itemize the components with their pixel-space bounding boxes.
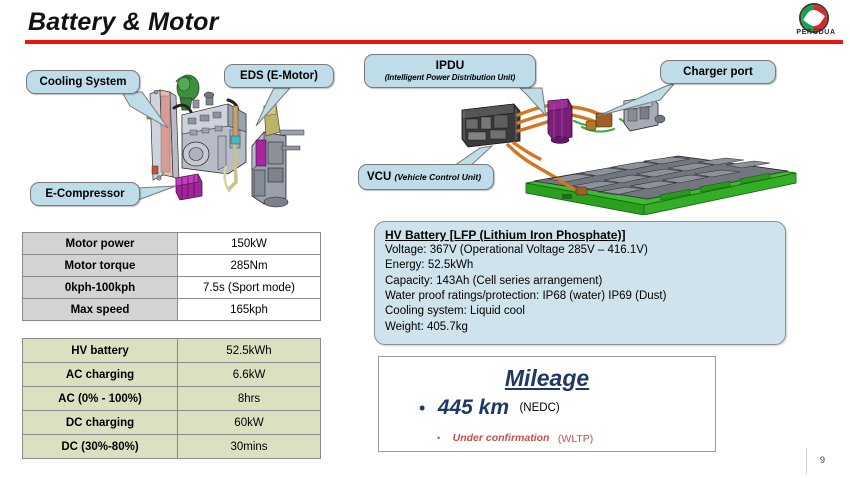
- charger-callout-tail: [596, 82, 676, 118]
- logo-wordmark: PERODUA: [788, 29, 844, 36]
- table-cell-value: 8hrs: [178, 387, 321, 411]
- mileage-secondary-row: • Under confirmation (WLTP): [379, 429, 715, 447]
- hv-battery-info-box: HV Battery [LFP (Lithium Iron Phosphate)…: [374, 221, 786, 345]
- table-row: DC (30%-80%) 30mins: [23, 435, 321, 459]
- table-cell-key: DC charging: [23, 411, 178, 435]
- table-cell-key: HV battery: [23, 339, 178, 363]
- callout-eds-emotor[interactable]: EDS (E-Motor): [224, 64, 334, 88]
- mileage-sub-standard: (WLTP): [558, 433, 593, 445]
- hv-box-line: Voltage: 367V (Operational Voltage 285V …: [385, 243, 775, 258]
- callout-label: E-Compressor: [45, 188, 124, 200]
- hv-box-line: Water proof ratings/protection: IP68 (wa…: [385, 289, 775, 304]
- cooling-callout-tail: [120, 90, 200, 136]
- hv-box-line: Cooling system: Liquid cool: [385, 304, 775, 319]
- callout-sublabel: (Intelligent Power Distribution Unit): [373, 73, 527, 82]
- table-row: DC charging 60kW: [23, 411, 321, 435]
- table-cell-value: 52.5kWh: [178, 339, 321, 363]
- motor-spec-table: Motor power 150kW Motor torque 285Nm 0kp…: [22, 232, 321, 321]
- table-cell-key: Motor power: [23, 233, 178, 255]
- table-row: 0kph-100kph 7.5s (Sport mode): [23, 277, 321, 299]
- mileage-value: 445 km: [438, 396, 509, 419]
- table-cell-value: 285Nm: [178, 255, 321, 277]
- slide-canvas: Battery & Motor PERODUA: [0, 0, 850, 478]
- eds-callout-tail: [244, 86, 294, 130]
- callout-label: EDS (E-Motor): [240, 70, 318, 82]
- perodua-logo: PERODUA: [788, 2, 844, 38]
- cylinder-art: [233, 106, 238, 140]
- battery-spec-table: HV battery 52.5kWh AC charging 6.6kW AC …: [22, 338, 321, 459]
- callout-label: Cooling System: [40, 76, 127, 88]
- ipdu-module-art: [462, 104, 520, 147]
- mileage-box: Mileage • 445 km (NEDC) • Under confirma…: [378, 356, 716, 452]
- table-cell-key: Max speed: [23, 299, 178, 321]
- table-cell-value: 150kW: [178, 233, 321, 255]
- callout-vcu[interactable]: VCU (Vehicle Control Unit): [358, 164, 494, 190]
- table-row: Max speed 165kph: [23, 299, 321, 321]
- table-cell-value: 6.6kW: [178, 363, 321, 387]
- table-cell-key: AC (0% - 100%): [23, 387, 178, 411]
- hv-box-line: Capacity: 143Ah (Cell series arrangement…: [385, 274, 775, 289]
- callout-cooling-system[interactable]: Cooling System: [26, 70, 140, 94]
- table-cell-value: 165kph: [178, 299, 321, 321]
- ecompressor-callout-tail: [136, 184, 182, 204]
- table-cell-key: DC (30%-80%): [23, 435, 178, 459]
- table-row: Motor torque 285Nm: [23, 255, 321, 277]
- table-cell-value: 60kW: [178, 411, 321, 435]
- table-cell-value: 30mins: [178, 435, 321, 459]
- page-title: Battery & Motor: [28, 8, 219, 37]
- title-divider: [25, 40, 843, 44]
- table-cell-key: Motor torque: [23, 255, 178, 277]
- mileage-sub-bullet: •: [437, 433, 440, 443]
- callout-ipdu[interactable]: IPDU (Intelligent Power Distribution Uni…: [364, 54, 536, 88]
- table-cell-value: 7.5s (Sport mode): [178, 277, 321, 299]
- table-row: AC charging 6.6kW: [23, 363, 321, 387]
- table-cell-key: 0kph-100kph: [23, 277, 178, 299]
- footer-divider: [806, 448, 807, 474]
- table-row: HV battery 52.5kWh: [23, 339, 321, 363]
- callout-e-compressor[interactable]: E-Compressor: [30, 182, 140, 206]
- hv-box-line: Weight: 405.7kg: [385, 320, 775, 335]
- mileage-sub-text: Under confirmation: [453, 432, 550, 444]
- callout-charger-port[interactable]: Charger port: [660, 60, 776, 84]
- mileage-bullet: •: [419, 398, 425, 418]
- mileage-primary-row: • 445 km (NEDC): [379, 396, 715, 420]
- hv-box-line: Energy: 52.5kWh: [385, 258, 775, 273]
- page-number: 9: [820, 455, 825, 465]
- mileage-title: Mileage: [379, 365, 715, 392]
- callout-label: IPDU: [436, 58, 465, 72]
- mileage-standard: (NEDC): [519, 402, 559, 414]
- ipdu-callout-tail: [516, 86, 556, 120]
- callout-sublabel: (Vehicle Control Unit): [394, 172, 481, 182]
- callout-label: VCU: [367, 171, 391, 183]
- table-cell-key: AC charging: [23, 363, 178, 387]
- table-row: AC (0% - 100%) 8hrs: [23, 387, 321, 411]
- table-row: Motor power 150kW: [23, 233, 321, 255]
- callout-label: Charger port: [683, 66, 753, 78]
- hv-box-title: HV Battery [LFP (Lithium Iron Phosphate)…: [385, 227, 775, 243]
